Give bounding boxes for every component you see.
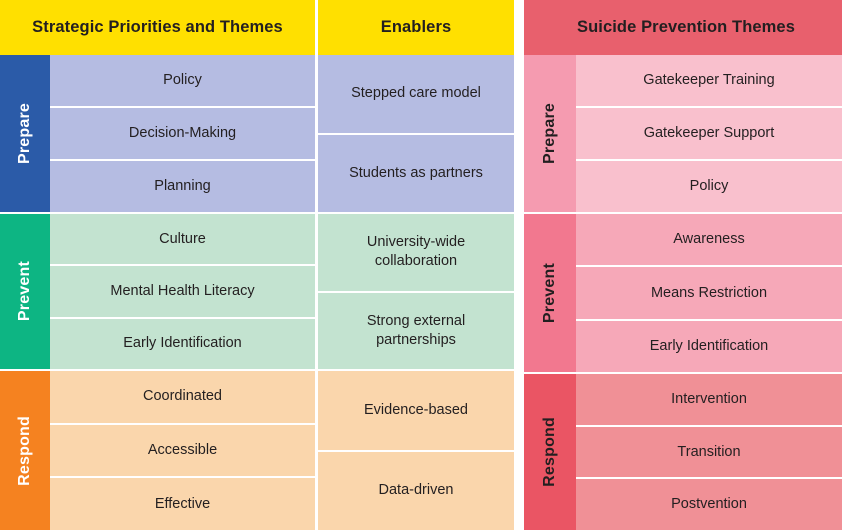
theme-cell: Accessible	[50, 425, 315, 479]
section-label-respond-right-text: Respond	[541, 417, 559, 487]
theme-cell: Decision-Making	[50, 108, 315, 161]
section-respond-right: Respond Intervention Transition Postvent…	[524, 374, 842, 530]
theme-cell: Early Identification	[50, 319, 315, 369]
themes-column-respond: Coordinated Accessible Effective	[50, 371, 315, 530]
left-panel-header-band: Strategic Priorities and Themes Enablers	[0, 0, 514, 55]
suicide-prevention-panel: Suicide Prevention Themes Prepare Gateke…	[524, 0, 842, 530]
themes-column-respond-right: Intervention Transition Postvention	[576, 374, 842, 530]
right-panel-header-band: Suicide Prevention Themes	[524, 0, 842, 55]
theme-cell: Mental Health Literacy	[50, 266, 315, 318]
section-prevent-left: Prevent Culture Mental Health Literacy E…	[0, 214, 514, 371]
section-prepare-right: Prepare Gatekeeper Training Gatekeeper S…	[524, 55, 842, 214]
theme-cell: Means Restriction	[576, 267, 842, 320]
themes-column-prepare: Policy Decision-Making Planning	[50, 55, 315, 212]
theme-cell: Effective	[50, 478, 315, 530]
section-label-prepare-right: Prepare	[524, 55, 576, 212]
enabler-cell: Data-driven	[318, 452, 514, 530]
section-label-prevent-left-text: Prevent	[16, 261, 34, 321]
theme-cell: Early Identification	[576, 321, 842, 372]
enablers-column-prevent: University-wide collaboration Strong ext…	[318, 214, 514, 369]
theme-cell: Policy	[50, 55, 315, 108]
strategic-framework-panel: Strategic Priorities and Themes Enablers…	[0, 0, 514, 530]
theme-cell: Policy	[576, 161, 842, 212]
enabler-cell: Students as partners	[318, 135, 514, 213]
section-label-respond-right: Respond	[524, 374, 576, 530]
theme-cell: Gatekeeper Support	[576, 108, 842, 161]
theme-cell: Planning	[50, 161, 315, 212]
section-label-respond-left: Respond	[0, 371, 50, 530]
enabler-cell: Evidence-based	[318, 371, 514, 452]
section-label-respond-left-text: Respond	[16, 416, 34, 486]
section-label-prepare-left-text: Prepare	[16, 103, 34, 164]
section-label-prevent-left: Prevent	[0, 214, 50, 369]
section-prepare-left: Prepare Policy Decision-Making Planning …	[0, 55, 514, 214]
theme-cell: Awareness	[576, 214, 842, 267]
section-label-prepare-right-text: Prepare	[541, 103, 559, 164]
themes-column-prepare-right: Gatekeeper Training Gatekeeper Support P…	[576, 55, 842, 212]
section-prevent-right: Prevent Awareness Means Restriction Earl…	[524, 214, 842, 374]
theme-cell: Postvention	[576, 479, 842, 530]
enablers-column-respond: Evidence-based Data-driven	[318, 371, 514, 530]
header-enablers: Enablers	[318, 0, 514, 55]
framework-diagram: Strategic Priorities and Themes Enablers…	[0, 0, 842, 530]
section-label-prepare-left: Prepare	[0, 55, 50, 212]
header-suicide-prevention-themes: Suicide Prevention Themes	[524, 0, 842, 55]
theme-cell: Culture	[50, 214, 315, 266]
panel-separator	[514, 0, 524, 530]
themes-column-prevent-right: Awareness Means Restriction Early Identi…	[576, 214, 842, 372]
theme-cell: Transition	[576, 427, 842, 480]
theme-cell: Coordinated	[50, 371, 315, 425]
theme-cell: Gatekeeper Training	[576, 55, 842, 108]
enablers-column-prepare: Stepped care model Students as partners	[318, 55, 514, 212]
section-label-prevent-right-text: Prevent	[541, 263, 559, 323]
enabler-cell: University-wide collaboration	[318, 214, 514, 293]
section-respond-left: Respond Coordinated Accessible Effective…	[0, 371, 514, 530]
section-label-prevent-right: Prevent	[524, 214, 576, 372]
enabler-cell: Strong external partnerships	[318, 293, 514, 370]
enabler-cell: Stepped care model	[318, 55, 514, 135]
header-strategic-priorities-and-themes: Strategic Priorities and Themes	[0, 0, 315, 55]
themes-column-prevent: Culture Mental Health Literacy Early Ide…	[50, 214, 315, 369]
theme-cell: Intervention	[576, 374, 842, 427]
